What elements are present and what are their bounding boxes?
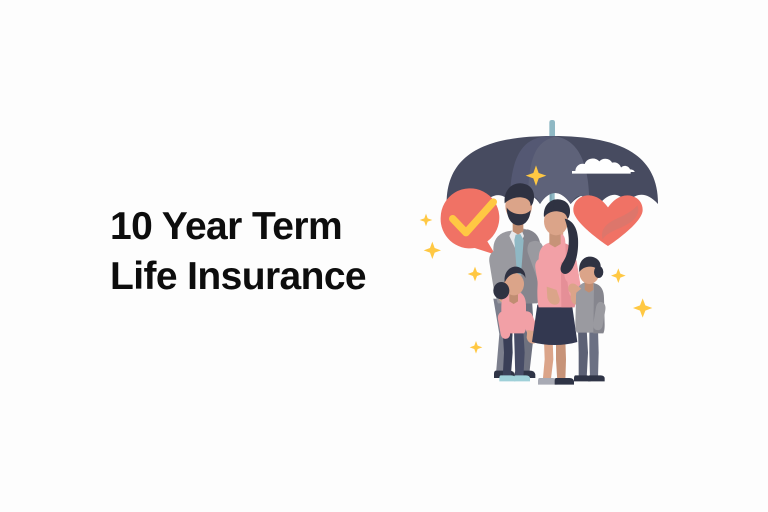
sparkle-icon bbox=[633, 298, 652, 317]
family-under-umbrella-illustration bbox=[404, 100, 694, 410]
checkmark-speech-bubble bbox=[441, 188, 500, 254]
heart-shape bbox=[573, 195, 642, 246]
sparkle-icon bbox=[470, 341, 483, 354]
insurance-banner: 10 Year Term Life Insurance bbox=[0, 0, 768, 512]
page-title: 10 Year Term Life Insurance bbox=[110, 202, 430, 302]
headline-line-1: 10 Year Term bbox=[110, 202, 430, 252]
headline-line-2: Life Insurance bbox=[110, 252, 430, 302]
sparkle-icon bbox=[424, 242, 441, 259]
sparkle-icon bbox=[468, 267, 483, 282]
sparkle-icon bbox=[420, 214, 433, 227]
sparkle-icon bbox=[611, 268, 626, 283]
